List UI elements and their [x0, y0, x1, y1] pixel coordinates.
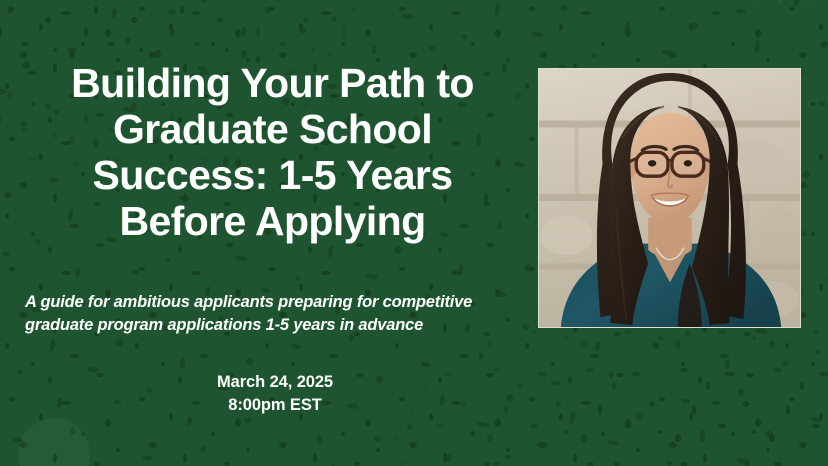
page-subtitle-line-1: A guide for ambitious applicants prepari… [25, 291, 530, 314]
speaker-headshot-photo [538, 68, 801, 328]
page-subtitle-line-2: graduate program applications 1-5 years … [25, 314, 530, 337]
event-date: March 24, 2025 [20, 371, 530, 394]
page-title: Building Your Path to Graduate School Su… [20, 60, 525, 244]
webinar-announcement-slide: Building Your Path to Graduate School Su… [0, 0, 828, 466]
speaker-headshot-illustration [539, 69, 800, 327]
page-title-line-3: Success: 1-5 Years [20, 152, 525, 198]
page-title-line-2: Graduate School [20, 106, 525, 152]
page-subtitle: A guide for ambitious applicants prepari… [25, 291, 530, 337]
event-time: 8:00pm EST [20, 394, 530, 417]
page-title-line-4: Before Applying [20, 198, 525, 244]
page-title-line-1: Building Your Path to [20, 60, 525, 106]
event-datetime: March 24, 2025 8:00pm EST [20, 371, 530, 417]
